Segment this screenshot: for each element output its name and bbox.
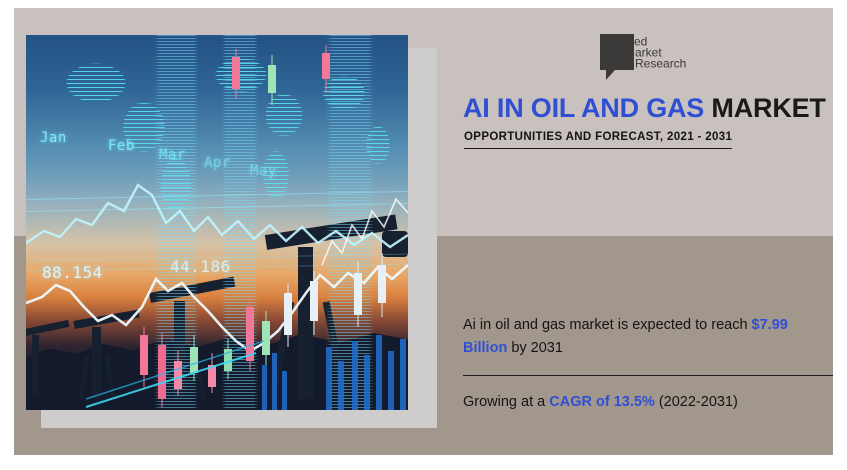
month-label-jan: Jan [40, 130, 67, 146]
logo-text-research: Research [635, 57, 686, 71]
page-title: AI IN OIL AND GAS MARKET [463, 94, 833, 122]
month-label-apr: Apr [204, 155, 231, 171]
month-label-feb: Feb [108, 138, 135, 154]
market-size-prefix: Ai in oil and gas market is expected to … [463, 317, 752, 333]
cagr-suffix: (2022-2031) [655, 394, 738, 410]
stats-block: Ai in oil and gas market is expected to … [463, 314, 833, 410]
cagr-prefix: Growing at a [463, 394, 549, 410]
price-label-44186: 44.186 [170, 257, 231, 276]
hero-photo: Jan Feb Mar Apr May 88.154 44.186 [26, 35, 408, 410]
market-size-suffix: by 2031 [507, 340, 563, 356]
page-title-rest: MARKET [704, 93, 826, 123]
market-size-statement: Ai in oil and gas market is expected to … [463, 314, 833, 361]
bottom-light-streaks [26, 35, 408, 410]
month-label-may: May [250, 163, 277, 179]
month-label-mar: Mar [159, 147, 186, 163]
cagr-statement: Growing at a CAGR of 13.5% (2022-2031) [463, 394, 833, 410]
stats-divider [463, 375, 833, 376]
allied-market-research-logo: Allied Market Research [598, 32, 698, 84]
page-title-highlight: AI IN OIL AND GAS [463, 93, 704, 123]
page-subtitle: OPPORTUNITIES AND FORECAST, 2021 - 2031 [464, 131, 732, 143]
price-label-88154: 88.154 [42, 263, 103, 282]
page-subtitle-container: OPPORTUNITIES AND FORECAST, 2021 - 2031 [464, 131, 732, 149]
logo-mark-icon: Allied Market Research [598, 32, 698, 84]
poster-canvas: Jan Feb Mar Apr May 88.154 44.186 Allied… [14, 8, 833, 455]
cagr-value: CAGR of 13.5% [549, 394, 655, 410]
